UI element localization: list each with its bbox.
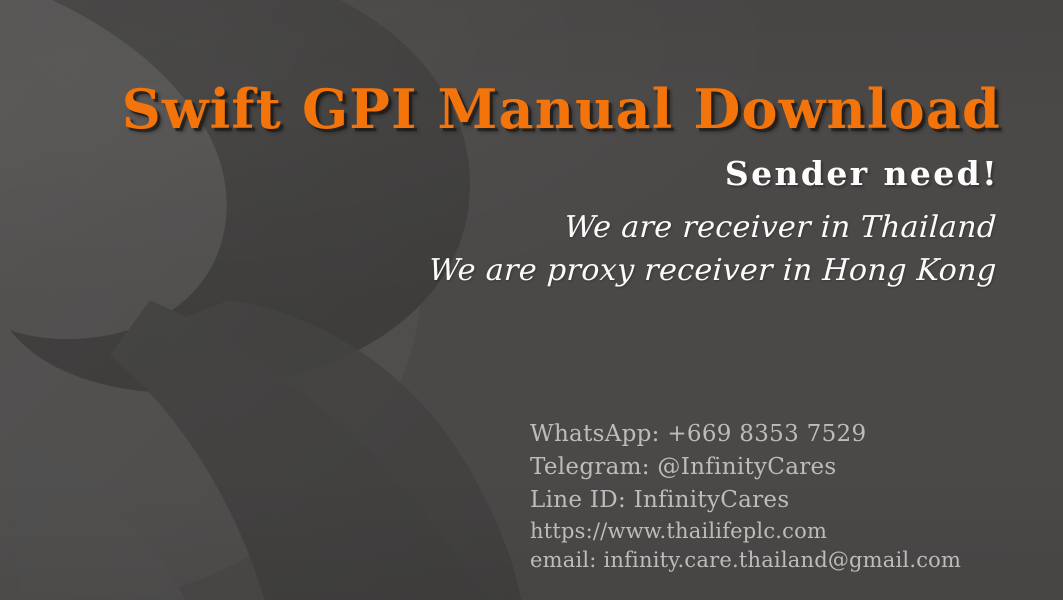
contact-line-id[interactable]: Line ID: InfinityCares <box>530 484 961 517</box>
contact-details-block: WhatsApp: +669 8353 7529 Telegram: @Infi… <box>530 418 961 575</box>
script-line-receiver-thailand: We are receiver in Thailand <box>428 206 998 249</box>
page-title: Swift GPI Manual Download <box>0 80 1001 138</box>
poster-content: Swift GPI Manual Download Sender need! W… <box>0 0 1063 600</box>
subtitle-sender-need: Sender need! <box>725 154 999 194</box>
poster-canvas: Swift GPI Manual Download Sender need! W… <box>0 0 1063 600</box>
contact-website-url[interactable]: https://www.thailifeplc.com <box>530 517 961 546</box>
script-line-proxy-receiver-hongkong: We are proxy receiver in Hong Kong <box>428 249 998 292</box>
contact-whatsapp[interactable]: WhatsApp: +669 8353 7529 <box>530 418 961 451</box>
contact-email[interactable]: email: infinity.care.thailand@gmail.com <box>530 546 961 575</box>
script-tagline-block: We are receiver in Thailand We are proxy… <box>429 206 997 292</box>
contact-telegram[interactable]: Telegram: @InfinityCares <box>530 451 961 484</box>
